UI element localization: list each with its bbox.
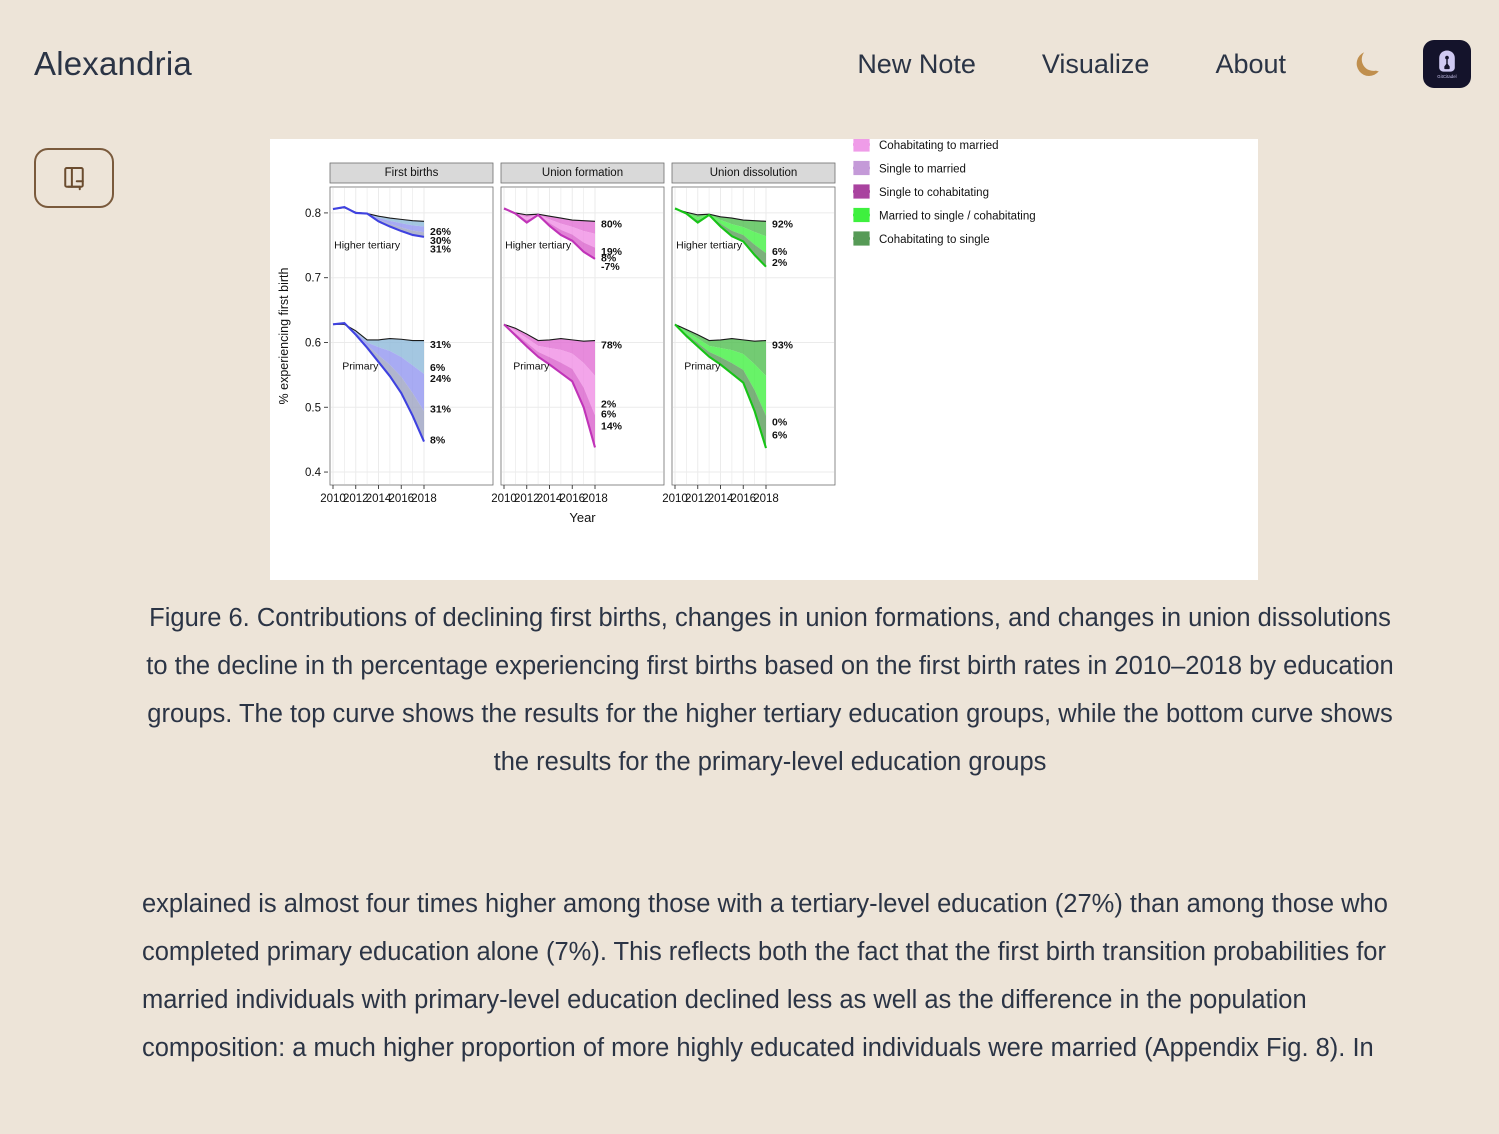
gitcitadel-helmet-icon	[1434, 48, 1460, 74]
y-axis-title: % experiencing first birth	[277, 268, 291, 405]
legend-item: Single to married	[853, 161, 966, 176]
legend-label: Cohabitating to married	[879, 140, 999, 152]
value-annotation: 31%	[430, 244, 452, 256]
x-tick-label: 2012	[514, 493, 540, 505]
document-content: % experiencing first birth0.40.50.60.70.…	[0, 128, 1499, 1134]
x-tick-label: 2018	[582, 493, 608, 505]
x-tick-label: 2012	[685, 493, 711, 505]
value-annotation: 0%	[772, 417, 788, 429]
nav-item-new-note[interactable]: New Note	[824, 43, 1009, 86]
legend-label: Cohabitating to single	[879, 234, 990, 246]
x-tick-label: 2010	[320, 493, 346, 505]
x-tick-label: 2012	[343, 493, 369, 505]
gitcitadel-logo-badge[interactable]: GitCitadel	[1423, 40, 1471, 88]
value-annotation: 2%	[772, 257, 788, 269]
legend-label: Married to single / cohabitating	[879, 211, 1036, 223]
moon-icon[interactable]	[1347, 43, 1389, 85]
value-annotation: 6%	[772, 429, 788, 441]
main-nav: New Note Visualize About GitCitadel	[824, 40, 1471, 88]
figure-6-image: % experiencing first birth0.40.50.60.70.…	[270, 139, 1258, 580]
value-annotation: 93%	[772, 339, 794, 351]
group-label: Primary	[342, 361, 379, 373]
group-label: Higher tertiary	[334, 240, 401, 252]
value-annotation: 31%	[430, 404, 452, 416]
y-tick-label: 0.5	[305, 402, 321, 414]
value-annotation: 92%	[772, 218, 794, 230]
value-annotation: 80%	[601, 218, 623, 230]
legend-item: Married to single / cohabitating	[853, 208, 1036, 223]
value-annotation: 14%	[601, 420, 623, 432]
y-tick-label: 0.6	[305, 337, 321, 349]
panel-title: Union formation	[542, 167, 623, 179]
nav-item-about[interactable]: About	[1182, 43, 1319, 86]
x-tick-label: 2016	[559, 493, 585, 505]
figure-caption: Figure 6. Contributions of declining fir…	[140, 594, 1400, 786]
faceted-line-chart: % experiencing first birth0.40.50.60.70.…	[270, 139, 1258, 580]
body-paragraph: explained is almost four times higher am…	[142, 880, 1400, 1072]
value-annotation: 24%	[430, 373, 452, 385]
value-annotation: 78%	[601, 339, 623, 351]
x-tick-label: 2010	[491, 493, 517, 505]
panel-title: First births	[385, 167, 439, 179]
legend-label: Single to married	[879, 164, 966, 176]
x-tick-label: 2018	[411, 493, 437, 505]
y-tick-label: 0.8	[305, 208, 321, 220]
group-label: Primary	[513, 361, 550, 373]
chart-canvas: % experiencing first birth0.40.50.60.70.…	[270, 139, 1258, 580]
site-header: Alexandria New Note Visualize About GitC…	[0, 0, 1499, 128]
nav-item-visualize[interactable]: Visualize	[1009, 43, 1183, 86]
group-label: Higher tertiary	[505, 240, 572, 252]
value-annotation: -7%	[601, 261, 620, 273]
group-label: Primary	[684, 361, 721, 373]
panel-title: Union dissolution	[710, 167, 798, 179]
value-annotation: 31%	[430, 339, 452, 351]
x-tick-label: 2016	[388, 493, 414, 505]
group-label: Higher tertiary	[676, 240, 743, 252]
value-annotation: 6%	[601, 409, 617, 421]
x-tick-label: 2010	[662, 493, 688, 505]
chart-panel-3: Union dissolutionHigher tertiaryPrimary9…	[662, 163, 835, 505]
chart-panel-2: Union formationHigher tertiaryPrimary80%…	[491, 163, 664, 505]
value-annotation: 8%	[430, 435, 446, 447]
y-tick-label: 0.7	[305, 273, 321, 285]
chart-panel-1: First birthsHigher tertiaryPrimary26%30%…	[320, 163, 493, 505]
x-tick-label: 2016	[730, 493, 756, 505]
x-axis-title: Year	[569, 510, 596, 525]
brand-title: Alexandria	[34, 45, 192, 83]
legend-label: Single to cohabitating	[879, 187, 989, 199]
y-tick-label: 0.4	[305, 467, 322, 479]
x-tick-label: 2018	[753, 493, 779, 505]
logo-caption: GitCitadel	[1437, 75, 1456, 79]
